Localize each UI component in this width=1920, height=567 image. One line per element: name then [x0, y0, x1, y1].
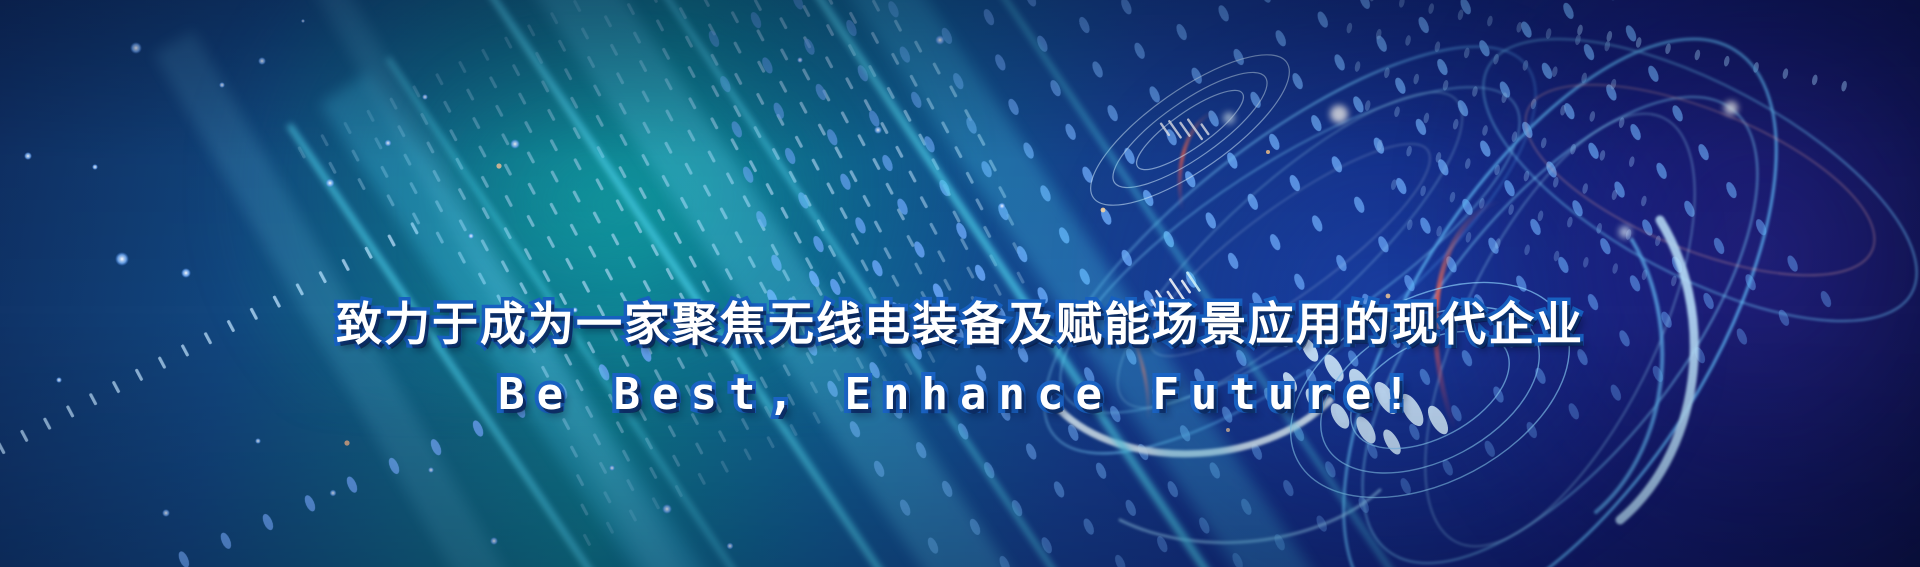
violet-haze-glow [1420, 0, 1920, 567]
headline-english: Be Best, Enhance Future! [0, 368, 1920, 422]
banner-text-block: 致力于成为一家聚焦无线电装备及赋能场景应用的现代企业 Be Best, Enha… [0, 296, 1920, 422]
hero-banner: 致力于成为一家聚焦无线电装备及赋能场景应用的现代企业 Be Best, Enha… [0, 0, 1920, 567]
blue-core-glow [1080, 20, 1700, 567]
upper-orbit-cluster [1070, 30, 1309, 231]
orbital-ellipse-rings [0, 0, 1920, 567]
vignette-shade [0, 0, 1920, 567]
floating-glow-particles [0, 0, 1920, 567]
dot-grid-right [0, 0, 1833, 567]
perspective-dot-grid [0, 0, 1920, 567]
headline-chinese: 致力于成为一家聚焦无线电装备及赋能场景应用的现代企业 [0, 296, 1920, 352]
dot-grid-vanishing [1295, 0, 1848, 313]
diagonal-cyan-light-beams [0, 0, 1920, 567]
